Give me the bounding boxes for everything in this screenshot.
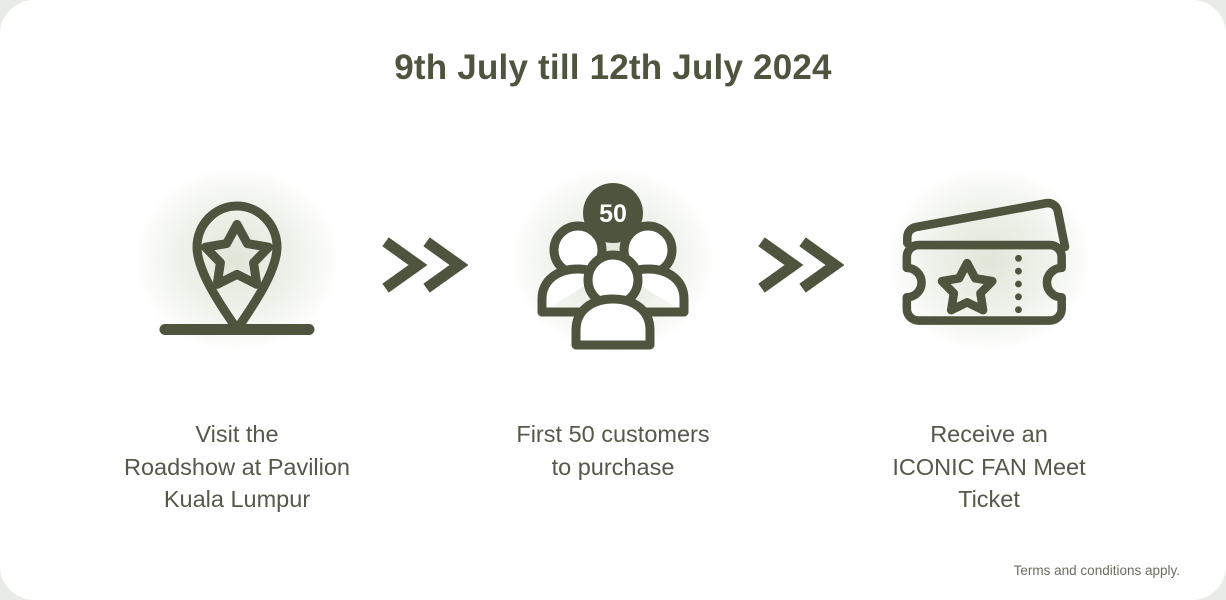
caption-step-1: Visit the Roadshow at Pavilion Kuala Lum… <box>99 418 375 516</box>
step-visit-roadshow <box>99 130 375 400</box>
double-chevron-right-icon <box>375 235 475 295</box>
terms-and-conditions-note: Terms and conditions apply. <box>1014 563 1180 578</box>
step-captions: Visit the Roadshow at Pavilion Kuala Lum… <box>0 418 1226 516</box>
caption-line: to purchase <box>475 451 751 484</box>
promo-banner: 9th July till 12th July 2024 <box>0 0 1226 600</box>
badge-label: 50 <box>599 200 627 228</box>
steps-flow: 50 <box>0 130 1226 400</box>
map-pin-star-icon <box>142 170 332 360</box>
caption-line: First 50 customers <box>475 418 751 451</box>
step-receive-ticket <box>851 130 1127 400</box>
caption-spacer <box>375 418 475 516</box>
double-chevron-right-icon <box>751 235 851 295</box>
caption-line: Ticket <box>851 483 1127 516</box>
caption-line: ICONIC FAN Meet <box>851 451 1127 484</box>
caption-line: Visit the <box>99 418 375 451</box>
caption-line: Kuala Lumpur <box>99 483 375 516</box>
caption-step-2: First 50 customers to purchase <box>475 418 751 516</box>
three-people-icon: 50 <box>518 170 708 360</box>
promo-card: 9th July till 12th July 2024 <box>0 0 1226 600</box>
ticket-star-icon <box>894 170 1084 360</box>
page-title: 9th July till 12th July 2024 <box>0 48 1226 88</box>
step-first-50-customers: 50 <box>475 130 751 400</box>
caption-line: Receive an <box>851 418 1127 451</box>
caption-spacer <box>751 418 851 516</box>
badge-50: 50 <box>583 183 643 243</box>
caption-step-3: Receive an ICONIC FAN Meet Ticket <box>851 418 1127 516</box>
caption-line: Roadshow at Pavilion <box>99 451 375 484</box>
